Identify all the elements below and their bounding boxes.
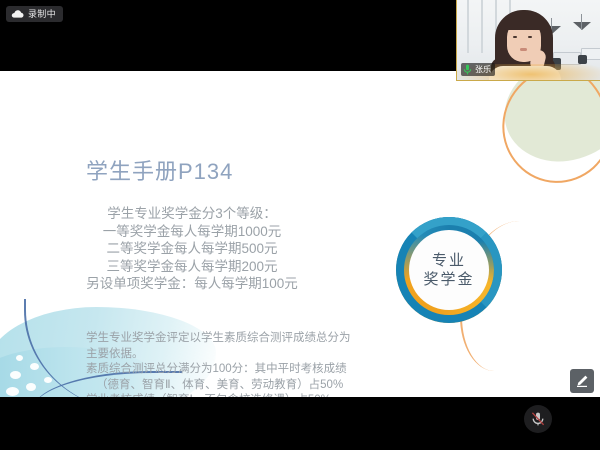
- decoration-dot: [44, 377, 52, 383]
- criteria-line: 学生专业奖学金评定以学生素质综合测评成绩总分为: [86, 331, 406, 347]
- evaluation-criteria-block: 学生专业奖学金评定以学生素质综合测评成绩总分为 主要依据。 素质综合测评总分满分…: [86, 331, 406, 397]
- badge-line-2: 奖学金: [423, 271, 474, 288]
- criteria-line: 主要依据。: [86, 347, 406, 363]
- criteria-line: （德育、智育Ⅱ、体育、美育、劳动教育）占50%: [86, 378, 406, 394]
- mute-toggle-button[interactable]: [524, 405, 552, 433]
- presentation-slide[interactable]: 学生手册P134 学生专业奖学金分3个等级： 一等奖学金每人每学期1000元 二…: [0, 71, 600, 397]
- scholarship-line: 一等奖学金每人每学期1000元: [42, 223, 342, 241]
- badge-label: 专业 奖学金: [409, 230, 489, 310]
- ceiling-lamp: [573, 22, 591, 30]
- screen-share-view: 录制中: [0, 0, 600, 450]
- participant-nametag: 张乐: [461, 63, 495, 76]
- decoration-dot: [30, 363, 39, 370]
- cloud-icon: [11, 10, 24, 18]
- scholarship-levels-block: 学生专业奖学金分3个等级： 一等奖学金每人每学期1000元 二等奖学金每人每学期…: [42, 205, 342, 293]
- scholarship-line: 学生专业奖学金分3个等级：: [42, 205, 342, 223]
- window-frame: [481, 0, 483, 53]
- scholarship-line: 三等奖学金每人每学期200元: [42, 258, 342, 276]
- microphone-on-icon: [463, 64, 472, 75]
- recording-label: 录制中: [28, 9, 56, 19]
- microphone-muted-icon: [530, 411, 546, 427]
- recording-indicator: 录制中: [6, 6, 63, 22]
- criteria-line: 素质综合测评总分满分为100分：其中平时考核成绩: [86, 362, 406, 378]
- scholarship-badge: 专业 奖学金: [396, 217, 502, 323]
- decoration-dot: [6, 387, 19, 396]
- scholarship-line: 二等奖学金每人每学期500元: [42, 240, 342, 258]
- decoration-orange-curve: [493, 71, 600, 191]
- decoration-green-blob: [497, 71, 600, 169]
- decoration-dot: [10, 371, 21, 379]
- person-figure: [487, 10, 561, 80]
- window-frame: [467, 0, 469, 53]
- meeting-control-bar: [0, 397, 600, 450]
- participant-video-thumbnail[interactable]: 张乐: [456, 0, 600, 81]
- slide-title: 学生手册P134: [86, 159, 233, 185]
- decoration-dot: [16, 355, 23, 361]
- badge-line-1: 专业: [432, 252, 466, 269]
- pen-icon: [575, 374, 589, 388]
- annotate-button[interactable]: [570, 369, 594, 393]
- participant-name: 张乐: [475, 65, 491, 74]
- chair: [578, 55, 587, 64]
- decoration-dot: [26, 383, 36, 391]
- scholarship-line: 另设单项奖学金：每人每学期100元: [42, 275, 342, 293]
